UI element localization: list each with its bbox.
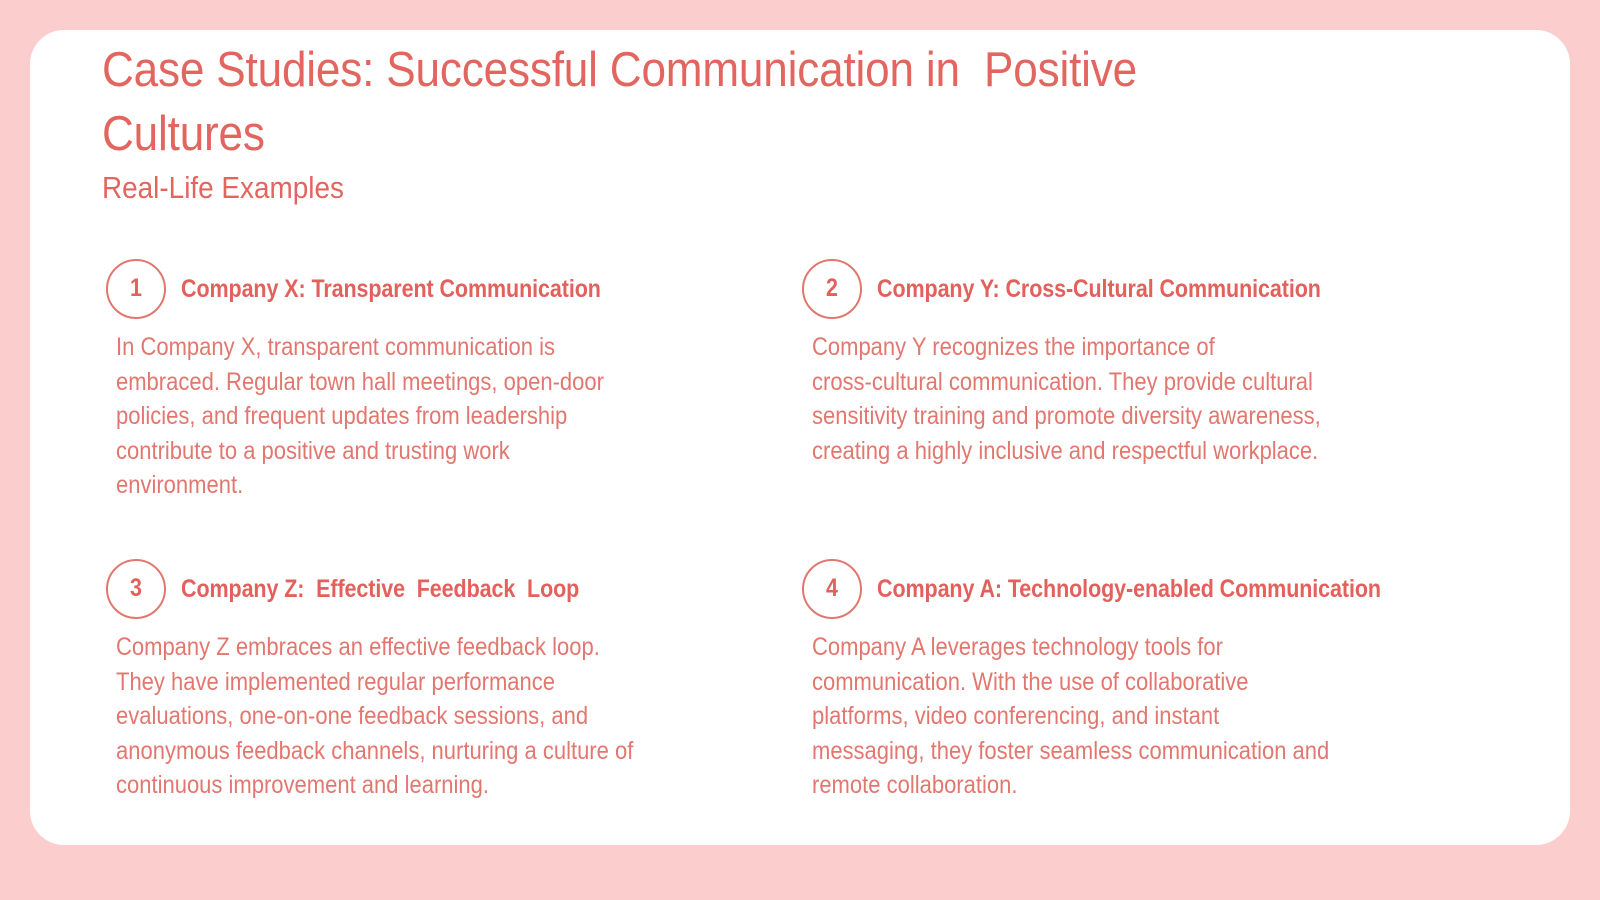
badge-number-label: 4 (808, 561, 856, 617)
page-subtitle: Real-Life Examples (102, 168, 344, 208)
case-title-1: Company X: Transparent Communication (181, 273, 817, 305)
number-badge-circle-3: 3 (106, 559, 166, 619)
case-study-item-3: 3 Company Z: Effective Feedback Loop Com… (102, 558, 802, 622)
case-header-3: 3 Company Z: Effective Feedback Loop (102, 558, 802, 622)
case-title-4: Company A: Technology-enabled Communicat… (877, 573, 1513, 605)
case-title-2: Company Y: Cross-Cultural Communication (877, 273, 1513, 305)
number-badge-circle-4: 4 (802, 559, 862, 619)
case-body-4: Company A leverages technology tools for… (812, 630, 1463, 803)
case-study-item-4: 4 Company A: Technology-enabled Communic… (798, 558, 1498, 622)
badge-number-label: 1 (112, 261, 160, 317)
badge-number-label: 3 (112, 561, 160, 617)
page-title: Case Studies: Successful Communication i… (102, 38, 1272, 166)
slide-card: Case Studies: Successful Communication i… (30, 30, 1570, 845)
case-header-4: 4 Company A: Technology-enabled Communic… (798, 558, 1498, 622)
number-badge-circle-2: 2 (802, 259, 862, 319)
case-body-3: Company Z embraces an effective feedback… (116, 630, 767, 803)
number-badge-circle-1: 1 (106, 259, 166, 319)
case-study-grid: 1 Company X: Transparent Communication I… (30, 258, 1570, 828)
case-study-item-2: 2 Company Y: Cross-Cultural Communicatio… (798, 258, 1498, 322)
case-header-2: 2 Company Y: Cross-Cultural Communicatio… (798, 258, 1498, 322)
case-title-3: Company Z: Effective Feedback Loop (181, 573, 817, 605)
case-header-1: 1 Company X: Transparent Communication (102, 258, 802, 322)
case-body-1: In Company X, transparent communication … (116, 330, 767, 503)
case-study-item-1: 1 Company X: Transparent Communication I… (102, 258, 802, 322)
case-body-2: Company Y recognizes the importance of c… (812, 330, 1463, 468)
badge-number-label: 2 (808, 261, 856, 317)
